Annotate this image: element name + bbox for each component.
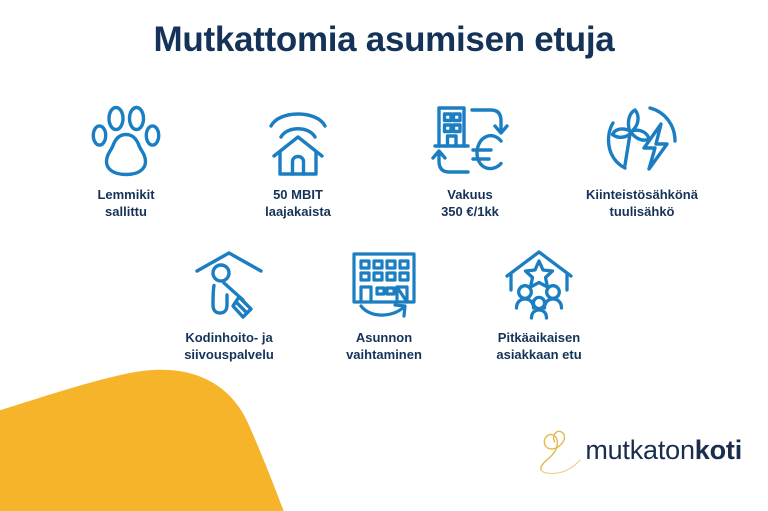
feature-item-loyalty: Pitkäaikaisen asiakkaan etu bbox=[462, 248, 617, 363]
feature-item-broadband: 50 MBIT laajakaista bbox=[212, 104, 384, 220]
feature-label: Pitkäaikaisen asiakkaan etu bbox=[496, 330, 581, 363]
yellow-blob-decoration bbox=[0, 367, 310, 511]
feature-row-2: Kodinhoito- ja siivouspalvelu bbox=[0, 248, 768, 363]
deposit-euro-building-icon bbox=[431, 104, 509, 178]
feature-item-wind-power: Kiinteistösähkönä tuulisähkö bbox=[556, 104, 728, 220]
feature-row-1: Lemmikit sallittu 50 MBIT laajakaista bbox=[0, 104, 768, 220]
logo-wordmark: mutkatonkoti bbox=[585, 437, 742, 464]
feature-label: Kodinhoito- ja siivouspalvelu bbox=[184, 330, 274, 363]
feature-label: Asunnon vaihtaminen bbox=[346, 330, 422, 363]
brand-logo[interactable]: mutkatonkoti bbox=[535, 425, 742, 475]
feature-item-cleaning: Kodinhoito- ja siivouspalvelu bbox=[152, 248, 307, 363]
feature-item-deposit: Vakuus 350 €/1kk bbox=[384, 104, 556, 220]
feature-label: 50 MBIT laajakaista bbox=[265, 187, 331, 220]
wind-turbine-bolt-icon bbox=[603, 104, 681, 178]
logo-word-regular: mutkaton bbox=[585, 435, 694, 465]
feature-label: Vakuus 350 €/1kk bbox=[441, 187, 499, 220]
feature-item-apartment-swap: Asunnon vaihtaminen bbox=[307, 248, 462, 363]
cleaning-person-broom-icon bbox=[193, 248, 265, 322]
infographic-canvas: Mutkattomia asumisen etuja Lemmikit sall… bbox=[0, 0, 768, 511]
paw-print-icon bbox=[88, 104, 164, 178]
wifi-house-icon bbox=[263, 104, 333, 178]
heart-swoosh-icon bbox=[535, 425, 581, 475]
page-title: Mutkattomia asumisen etuja bbox=[0, 20, 768, 60]
feature-item-pets: Lemmikit sallittu bbox=[40, 104, 212, 220]
apartment-swap-arrow-icon bbox=[348, 248, 420, 322]
feature-label: Kiinteistösähkönä tuulisähkö bbox=[586, 187, 698, 220]
house-star-family-icon bbox=[501, 248, 577, 322]
logo-word-bold: koti bbox=[695, 435, 742, 465]
feature-label: Lemmikit sallittu bbox=[97, 187, 154, 220]
